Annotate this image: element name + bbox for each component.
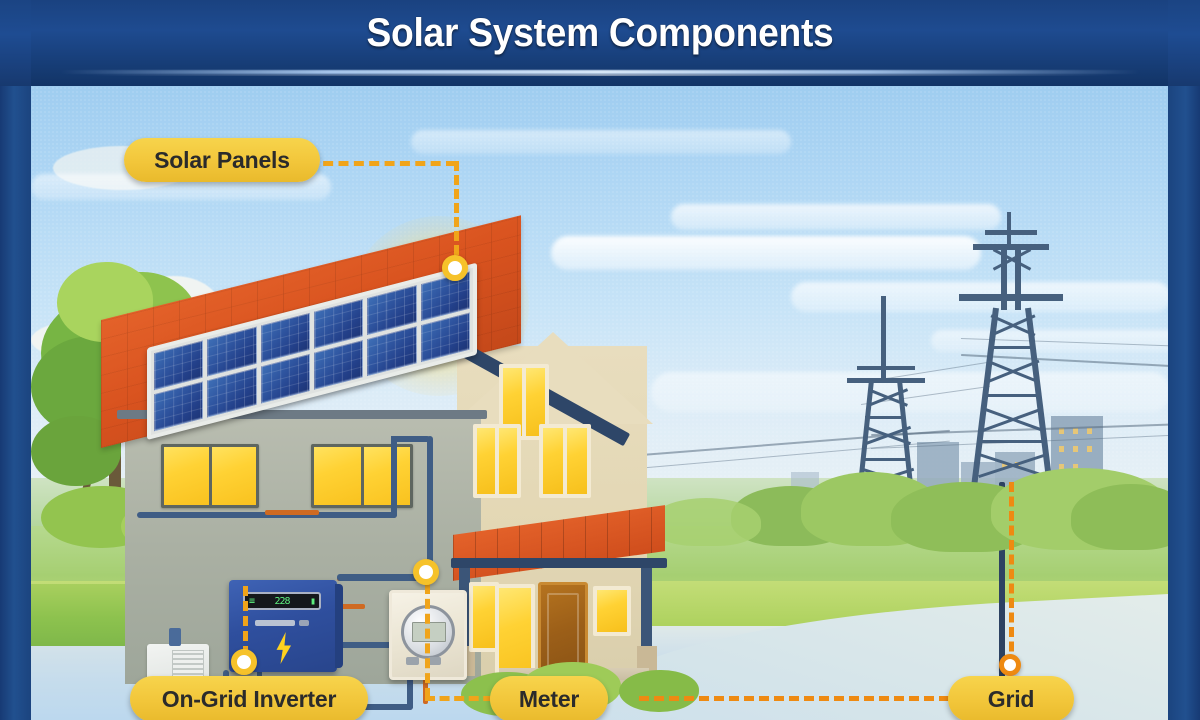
header-band: Solar System Components xyxy=(0,0,1200,86)
solar-panel xyxy=(207,368,256,418)
callout-meter-label: Meter xyxy=(519,686,579,713)
callout-grid[interactable]: Grid xyxy=(948,676,1074,720)
marker-grid xyxy=(999,654,1021,676)
cloud xyxy=(671,204,1001,230)
header-shine-line-secondary xyxy=(90,74,1110,76)
inverter-display-left: ≡ xyxy=(249,596,254,607)
connector-inverter-vertical xyxy=(243,586,248,656)
porch-fascia xyxy=(451,558,667,568)
cloud xyxy=(551,236,981,270)
marker-solar-panels xyxy=(442,255,468,281)
connector-meter-to-grid xyxy=(639,696,979,701)
hedge xyxy=(651,498,761,546)
inverter-display-value: 228 xyxy=(274,596,289,607)
frame-border-left xyxy=(0,0,31,720)
solar-panel xyxy=(314,340,363,390)
window xyxy=(593,586,631,636)
door-panel xyxy=(547,593,579,667)
callout-on-grid-inverter[interactable]: On-Grid Inverter xyxy=(130,676,368,720)
inverter-indicator xyxy=(299,620,309,626)
inverter-display: ≡ 228 ▮ xyxy=(243,592,321,610)
marker-inverter xyxy=(231,649,257,675)
solar-panel xyxy=(154,381,203,431)
conduit xyxy=(427,436,433,576)
solar-panel xyxy=(421,312,470,362)
connector-meter-vertical xyxy=(425,584,430,698)
solar-panel xyxy=(261,354,310,404)
page-title: Solar System Components xyxy=(42,11,1158,56)
callout-on-grid-inverter-label: On-Grid Inverter xyxy=(162,686,336,713)
hedge xyxy=(1071,484,1168,550)
house: ≡ 228 ▮ xyxy=(101,286,661,706)
callout-solar-panels[interactable]: Solar Panels xyxy=(124,138,320,182)
connector-grid-vertical xyxy=(1009,482,1014,666)
window xyxy=(161,444,259,508)
window xyxy=(311,444,413,508)
window xyxy=(539,424,591,498)
callout-meter[interactable]: Meter xyxy=(490,676,608,720)
inverter-label-strip xyxy=(255,620,295,626)
solar-panel xyxy=(367,326,416,376)
meter-button xyxy=(406,657,419,665)
frame-border-right xyxy=(1168,0,1200,720)
lightning-bolt-icon xyxy=(273,632,295,664)
ac-canister xyxy=(169,628,181,646)
shrub xyxy=(619,670,699,712)
inverter-display-right: ▮ xyxy=(310,596,315,607)
conduit-orange xyxy=(265,510,319,515)
conduit xyxy=(391,436,397,518)
marker-meter xyxy=(413,559,439,585)
cloud xyxy=(411,130,791,154)
connector-solar-panels-vertical xyxy=(454,161,459,269)
screenshot-root: Solar System Components xyxy=(0,0,1200,720)
window xyxy=(473,424,521,498)
callout-solar-panels-label: Solar Panels xyxy=(154,147,290,174)
inverter-side xyxy=(335,584,343,668)
callout-grid-label: Grid xyxy=(988,686,1034,713)
